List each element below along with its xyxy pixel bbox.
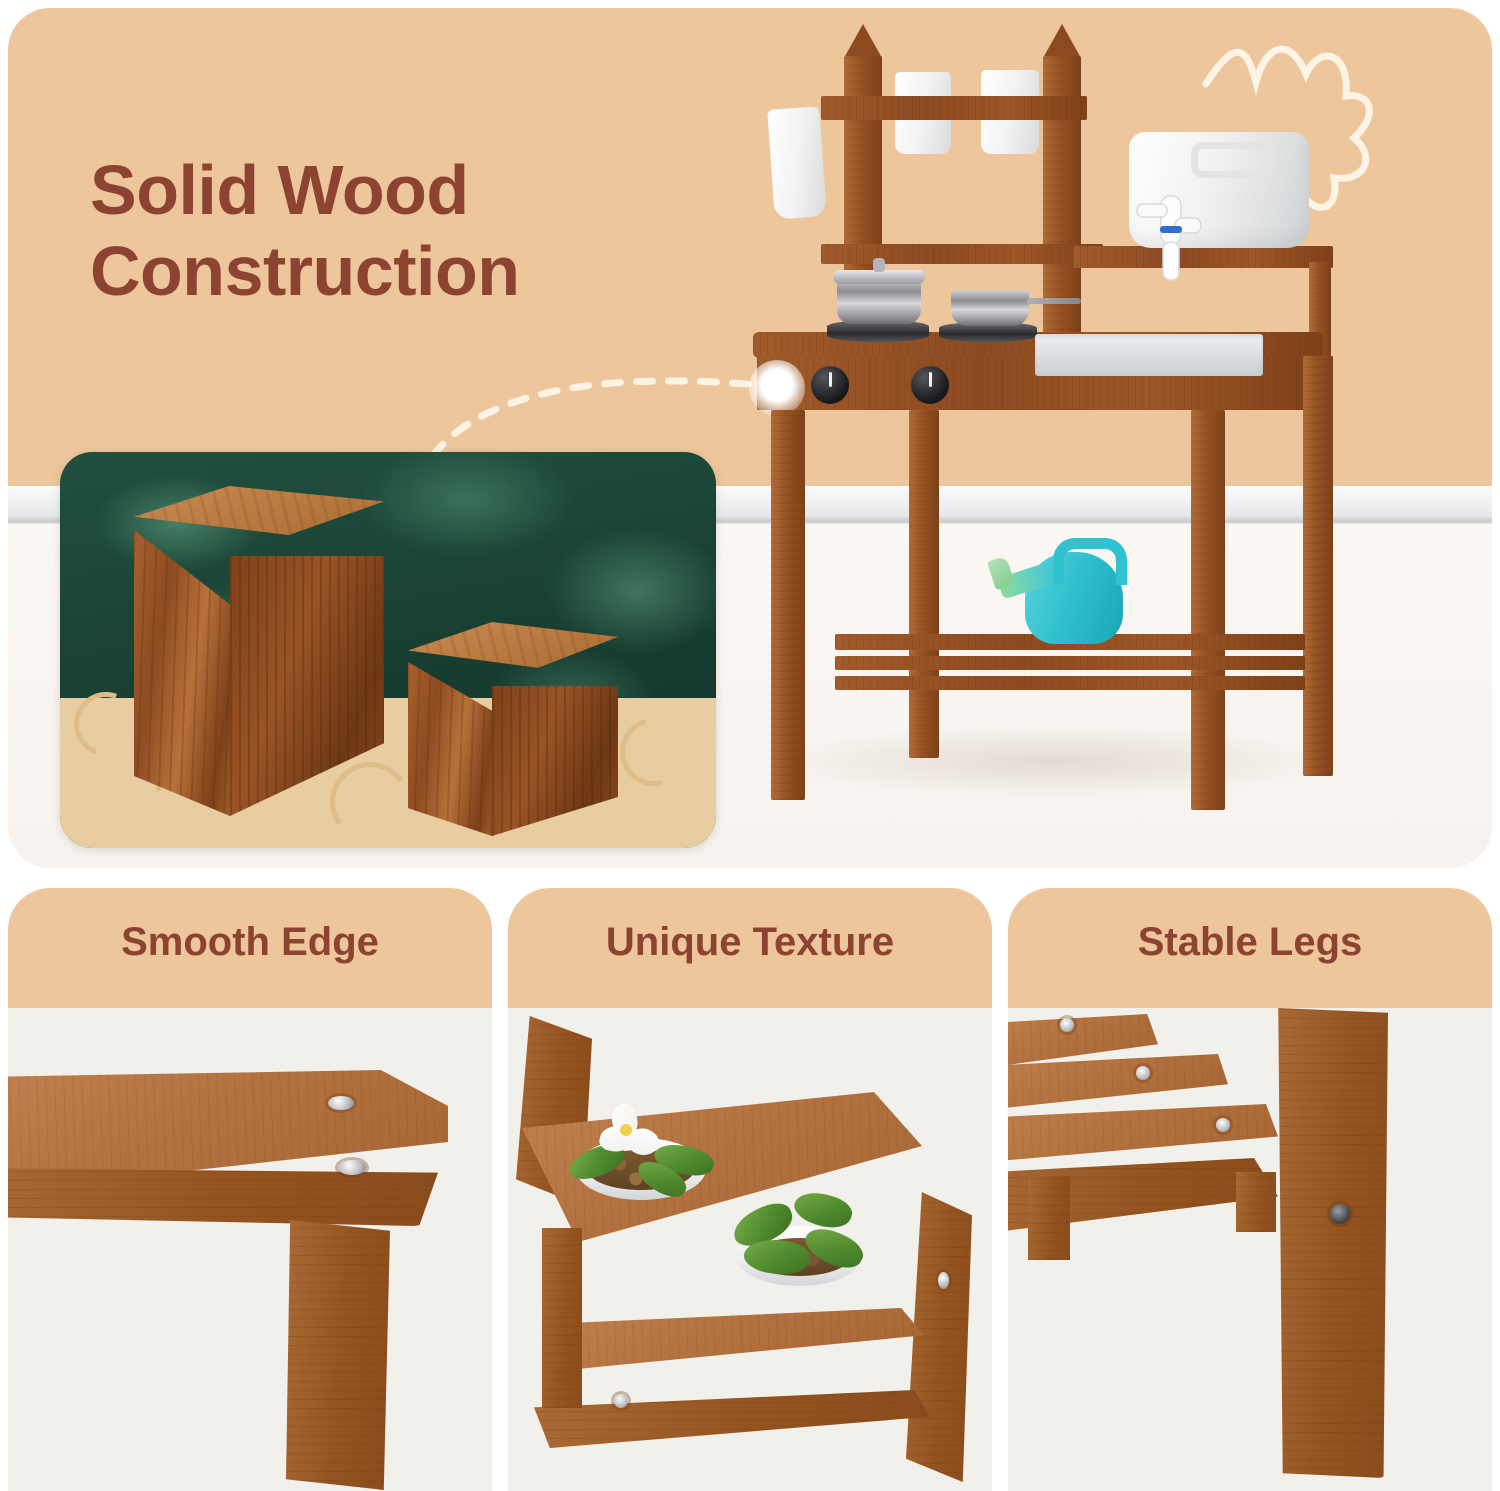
frying-pan: [951, 290, 1029, 326]
wood-block-large: [134, 486, 384, 816]
card-title-stable-legs: Stable Legs: [1008, 920, 1492, 965]
screw-slat-2: [1136, 1066, 1150, 1080]
watering-can: [995, 536, 1125, 644]
infographic-canvas: Solid Wood Construction: [0, 0, 1500, 1491]
edge-highlight-glow: [749, 360, 805, 416]
leg-back-right: [1303, 356, 1333, 776]
stove-knob-right[interactable]: [911, 366, 949, 404]
lower-shelf-slat-3: [835, 676, 1305, 690]
feature-cards: Smooth Edge Unique Texture: [0, 888, 1500, 1491]
mud-kitchen-product: [743, 26, 1363, 836]
stove-knob-left[interactable]: [811, 366, 849, 404]
leg-back-left: [909, 410, 939, 758]
flower-center: [620, 1124, 632, 1136]
screw-post: [938, 1272, 949, 1289]
page-title: Solid Wood Construction: [90, 150, 730, 312]
screw-upper: [328, 1096, 354, 1110]
screw-leg: [1330, 1204, 1350, 1224]
wood-block-inset-photo: [60, 452, 716, 848]
card-title-unique-texture: Unique Texture: [508, 920, 992, 965]
sink-basin: [1035, 334, 1263, 376]
screw-shelf: [614, 1394, 628, 1408]
screw-slat-3: [1216, 1118, 1230, 1132]
screw-lower: [338, 1160, 366, 1175]
feature-card-stable-legs[interactable]: Stable Legs: [1008, 888, 1492, 1491]
page-title-line1: Solid Wood: [90, 150, 730, 231]
picket-top-left: [844, 24, 882, 58]
feature-card-smooth-edge[interactable]: Smooth Edge: [8, 888, 492, 1491]
pot-knob: [873, 258, 885, 272]
card-title-smooth-edge: Smooth Edge: [8, 920, 492, 965]
faucet-icon: [1135, 190, 1207, 286]
screw-slat-1: [1060, 1018, 1074, 1032]
floor-shadow: [773, 726, 1333, 796]
top-shelf-rail: [821, 96, 1087, 120]
middle-rail: [821, 244, 1103, 264]
dispenser-handle: [1191, 142, 1275, 178]
card-image-unique-texture: [508, 1008, 992, 1491]
pan-handle: [1027, 298, 1081, 304]
lower-shelf-slat-2: [835, 656, 1305, 670]
leg-front-right: [1191, 410, 1225, 810]
feature-card-unique-texture[interactable]: Unique Texture: [508, 888, 992, 1491]
card-image-smooth-edge: [8, 1008, 492, 1491]
pot-lid: [833, 270, 925, 284]
cooking-pot: [837, 278, 921, 324]
card-image-stable-legs: [1008, 1008, 1492, 1491]
leg-front-left: [771, 410, 805, 800]
cup-3: [767, 106, 827, 219]
picket-top-right: [1043, 24, 1081, 58]
page-title-line2: Construction: [90, 231, 730, 312]
wood-block-small: [408, 622, 618, 836]
hero-panel: Solid Wood Construction: [8, 8, 1492, 868]
